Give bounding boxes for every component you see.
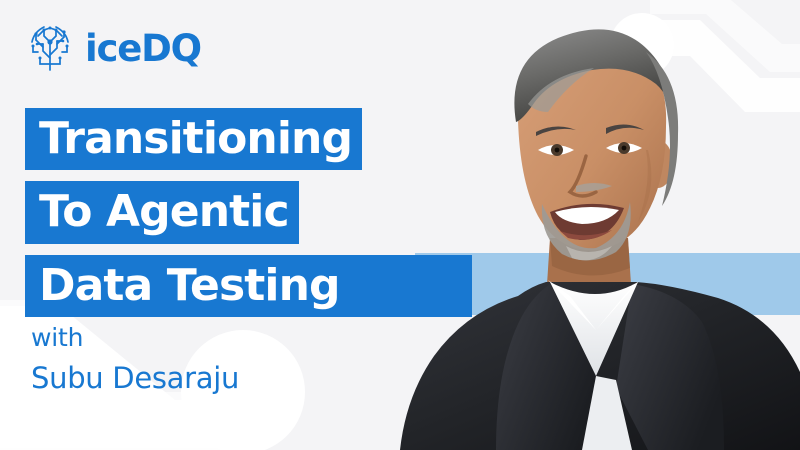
title-line-3: Data Testing [25, 255, 472, 317]
presenter-name: Subu Desaraju [31, 360, 239, 398]
brand-logo-text: iceDQ [85, 30, 201, 67]
title-line-3-text: Data Testing [25, 255, 472, 317]
circuit-brain-icon [24, 22, 76, 74]
brand-logo[interactable]: iceDQ [24, 22, 201, 74]
webinar-banner: iceDQ Transitioning To Agentic Data Test… [0, 0, 800, 450]
title-line-2: To Agentic [25, 181, 472, 243]
presenter-block: with Subu Desaraju [31, 322, 239, 397]
title-line-1-text: Transitioning [25, 108, 362, 170]
title-line-2-text: To Agentic [25, 181, 299, 243]
presenter-with-label: with [31, 322, 239, 355]
title-line-1: Transitioning [25, 108, 472, 170]
page-title: Transitioning To Agentic Data Testing [25, 108, 472, 317]
